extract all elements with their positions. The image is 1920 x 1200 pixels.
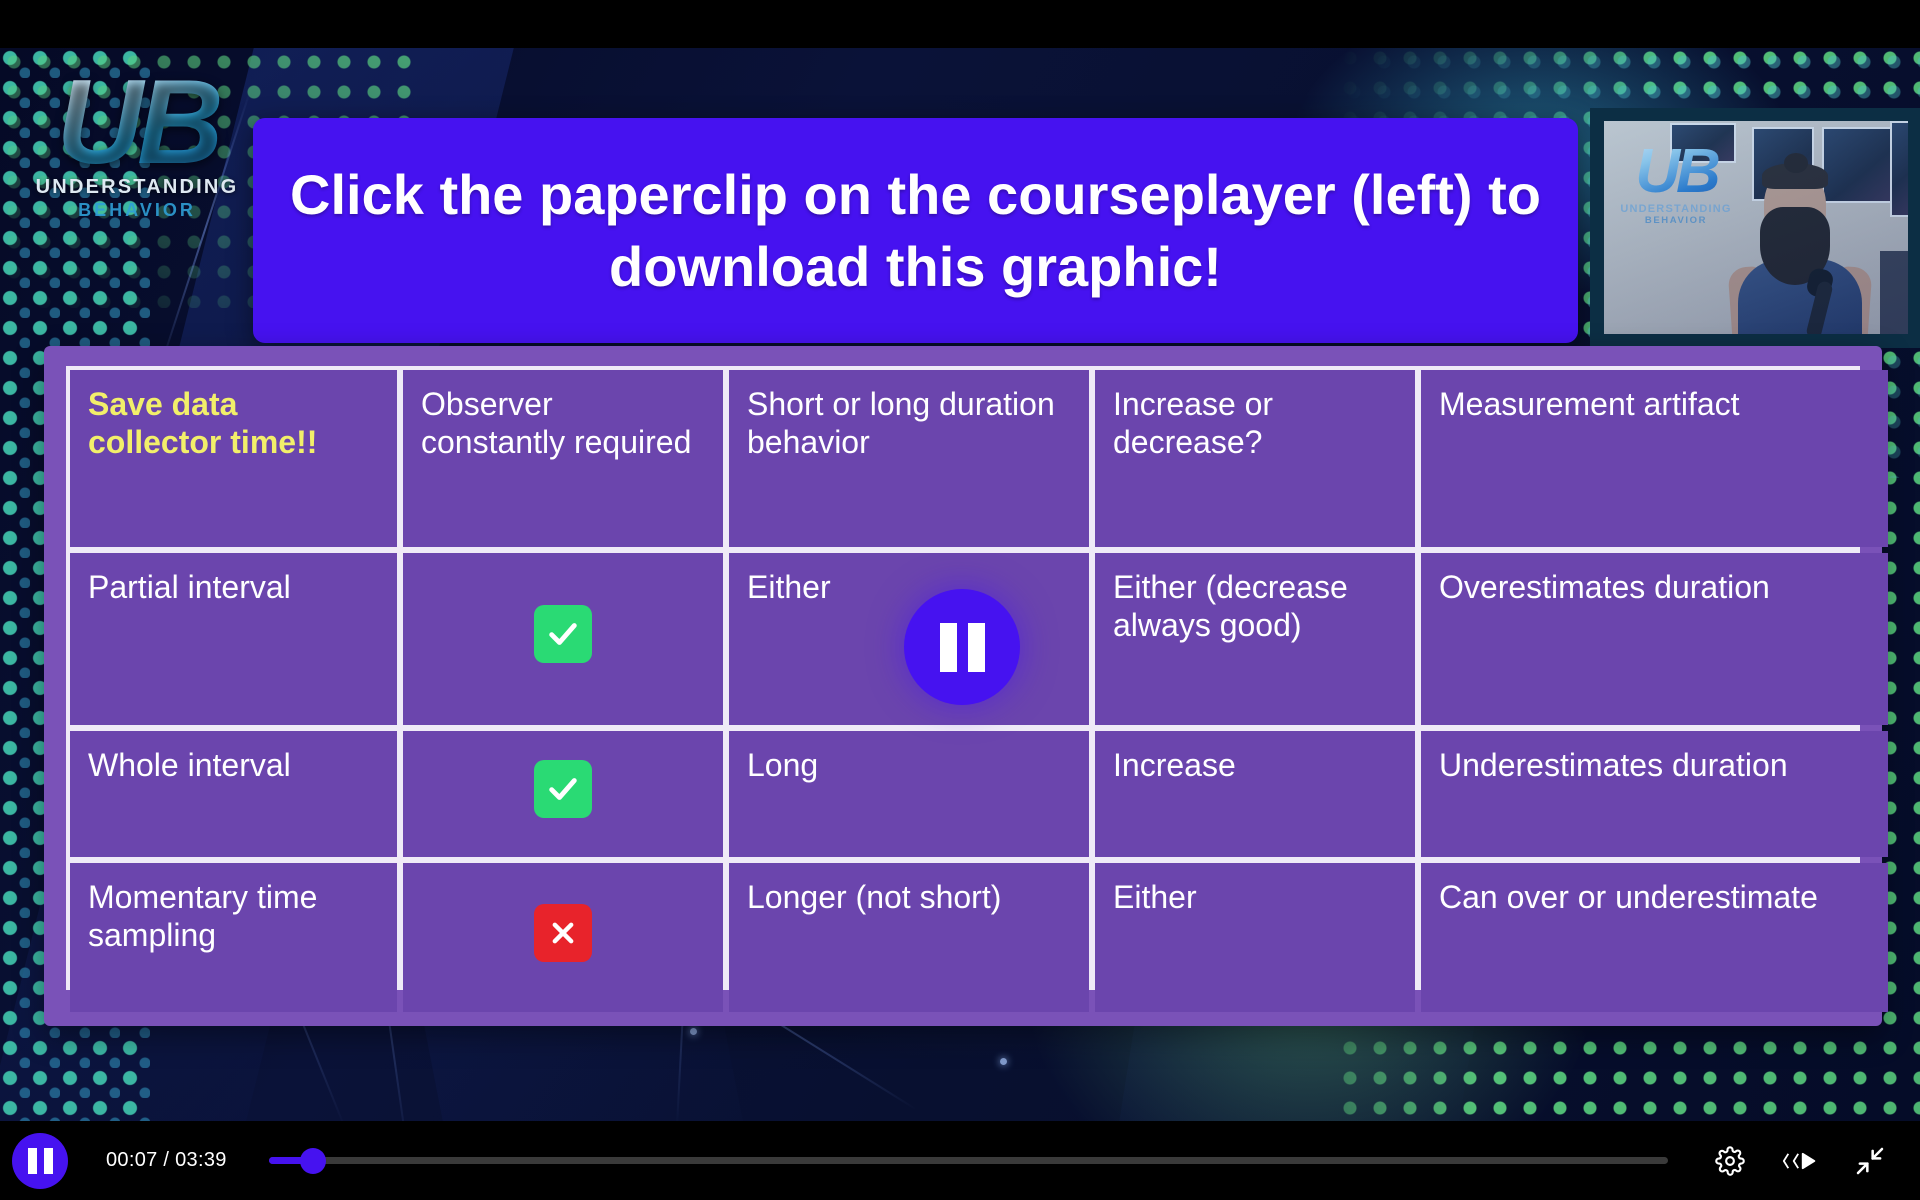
table-cell-artifact: Can over or underestimate (1421, 863, 1888, 1012)
video-surface[interactable]: UB UNDERSTANDING BEHAVIOR Click the pape… (0, 48, 1920, 1121)
playback-speed-icon (1782, 1148, 1818, 1174)
table-header-cell: Observer constantly required (403, 370, 723, 547)
brand-logo-line2: BEHAVIOR (22, 200, 252, 221)
brand-logo-mark: UB (22, 62, 252, 182)
webcam-overlay: UB UNDERSTANDING BEHAVIOR (1590, 108, 1920, 348)
seek-thumb[interactable] (300, 1148, 326, 1174)
bg-sparkle (690, 1028, 697, 1035)
table-cell-direction: Either (1095, 863, 1415, 1012)
time-display: 00:07 / 03:39 (106, 1149, 227, 1172)
table-header-cell: Save data collector time!! (70, 370, 397, 547)
seek-bar[interactable] (269, 1121, 1668, 1200)
check-icon (534, 605, 592, 663)
webcam-color-tint (1604, 121, 1908, 334)
video-player-fullscreen: UB UNDERSTANDING BEHAVIOR Click the pape… (0, 0, 1920, 1200)
table-cell-observer-required (403, 731, 723, 857)
playback-speed-button[interactable] (1772, 1133, 1828, 1189)
table-header-cell: Measurement artifact (1421, 370, 1888, 547)
cross-icon (534, 904, 592, 962)
brand-logo: UB UNDERSTANDING BEHAVIOR (22, 62, 252, 262)
table-cell-direction: Either (decrease always good) (1095, 553, 1415, 725)
pause-icon-bar-left (28, 1148, 37, 1174)
table-header-cell: Short or long duration behavior (729, 370, 1089, 547)
check-icon (534, 760, 592, 818)
pause-icon-bar-left (940, 623, 957, 672)
center-pause-button[interactable] (904, 589, 1020, 705)
table-cell-artifact: Overestimates duration (1421, 553, 1888, 725)
exit-fullscreen-icon (1854, 1145, 1886, 1177)
pause-icon-bar-right (968, 623, 985, 672)
table-cell-observer-required (403, 553, 723, 725)
gear-icon (1715, 1146, 1745, 1176)
table-cell-direction: Increase (1095, 731, 1415, 857)
brand-logo-line1: UNDERSTANDING (22, 176, 252, 199)
table-header-cell: Increase or decrease? (1095, 370, 1415, 547)
bg-sparkle (1000, 1058, 1007, 1065)
player-control-bar: 00:07 / 03:39 (0, 1121, 1920, 1200)
exit-fullscreen-button[interactable] (1842, 1133, 1898, 1189)
webcam-video: UB UNDERSTANDING BEHAVIOR (1604, 121, 1908, 334)
callout-banner-text: Click the paperclip on the courseplayer … (253, 159, 1578, 302)
table-cell-observer-required (403, 863, 723, 1012)
table-cell-duration: Long (729, 731, 1089, 857)
seek-track[interactable] (269, 1157, 1668, 1164)
settings-button[interactable] (1702, 1133, 1758, 1189)
table-row-method: Partial interval (70, 553, 397, 725)
table-row-method: Whole interval (70, 731, 397, 857)
table-cell-artifact: Underestimates duration (1421, 731, 1888, 857)
table-row-method: Momentary time sampling (70, 863, 397, 1012)
play-pause-button[interactable] (12, 1133, 68, 1189)
callout-banner: Click the paperclip on the courseplayer … (253, 118, 1578, 343)
table-cell-duration: Longer (not short) (729, 863, 1089, 1012)
pause-icon-bar-right (44, 1148, 53, 1174)
